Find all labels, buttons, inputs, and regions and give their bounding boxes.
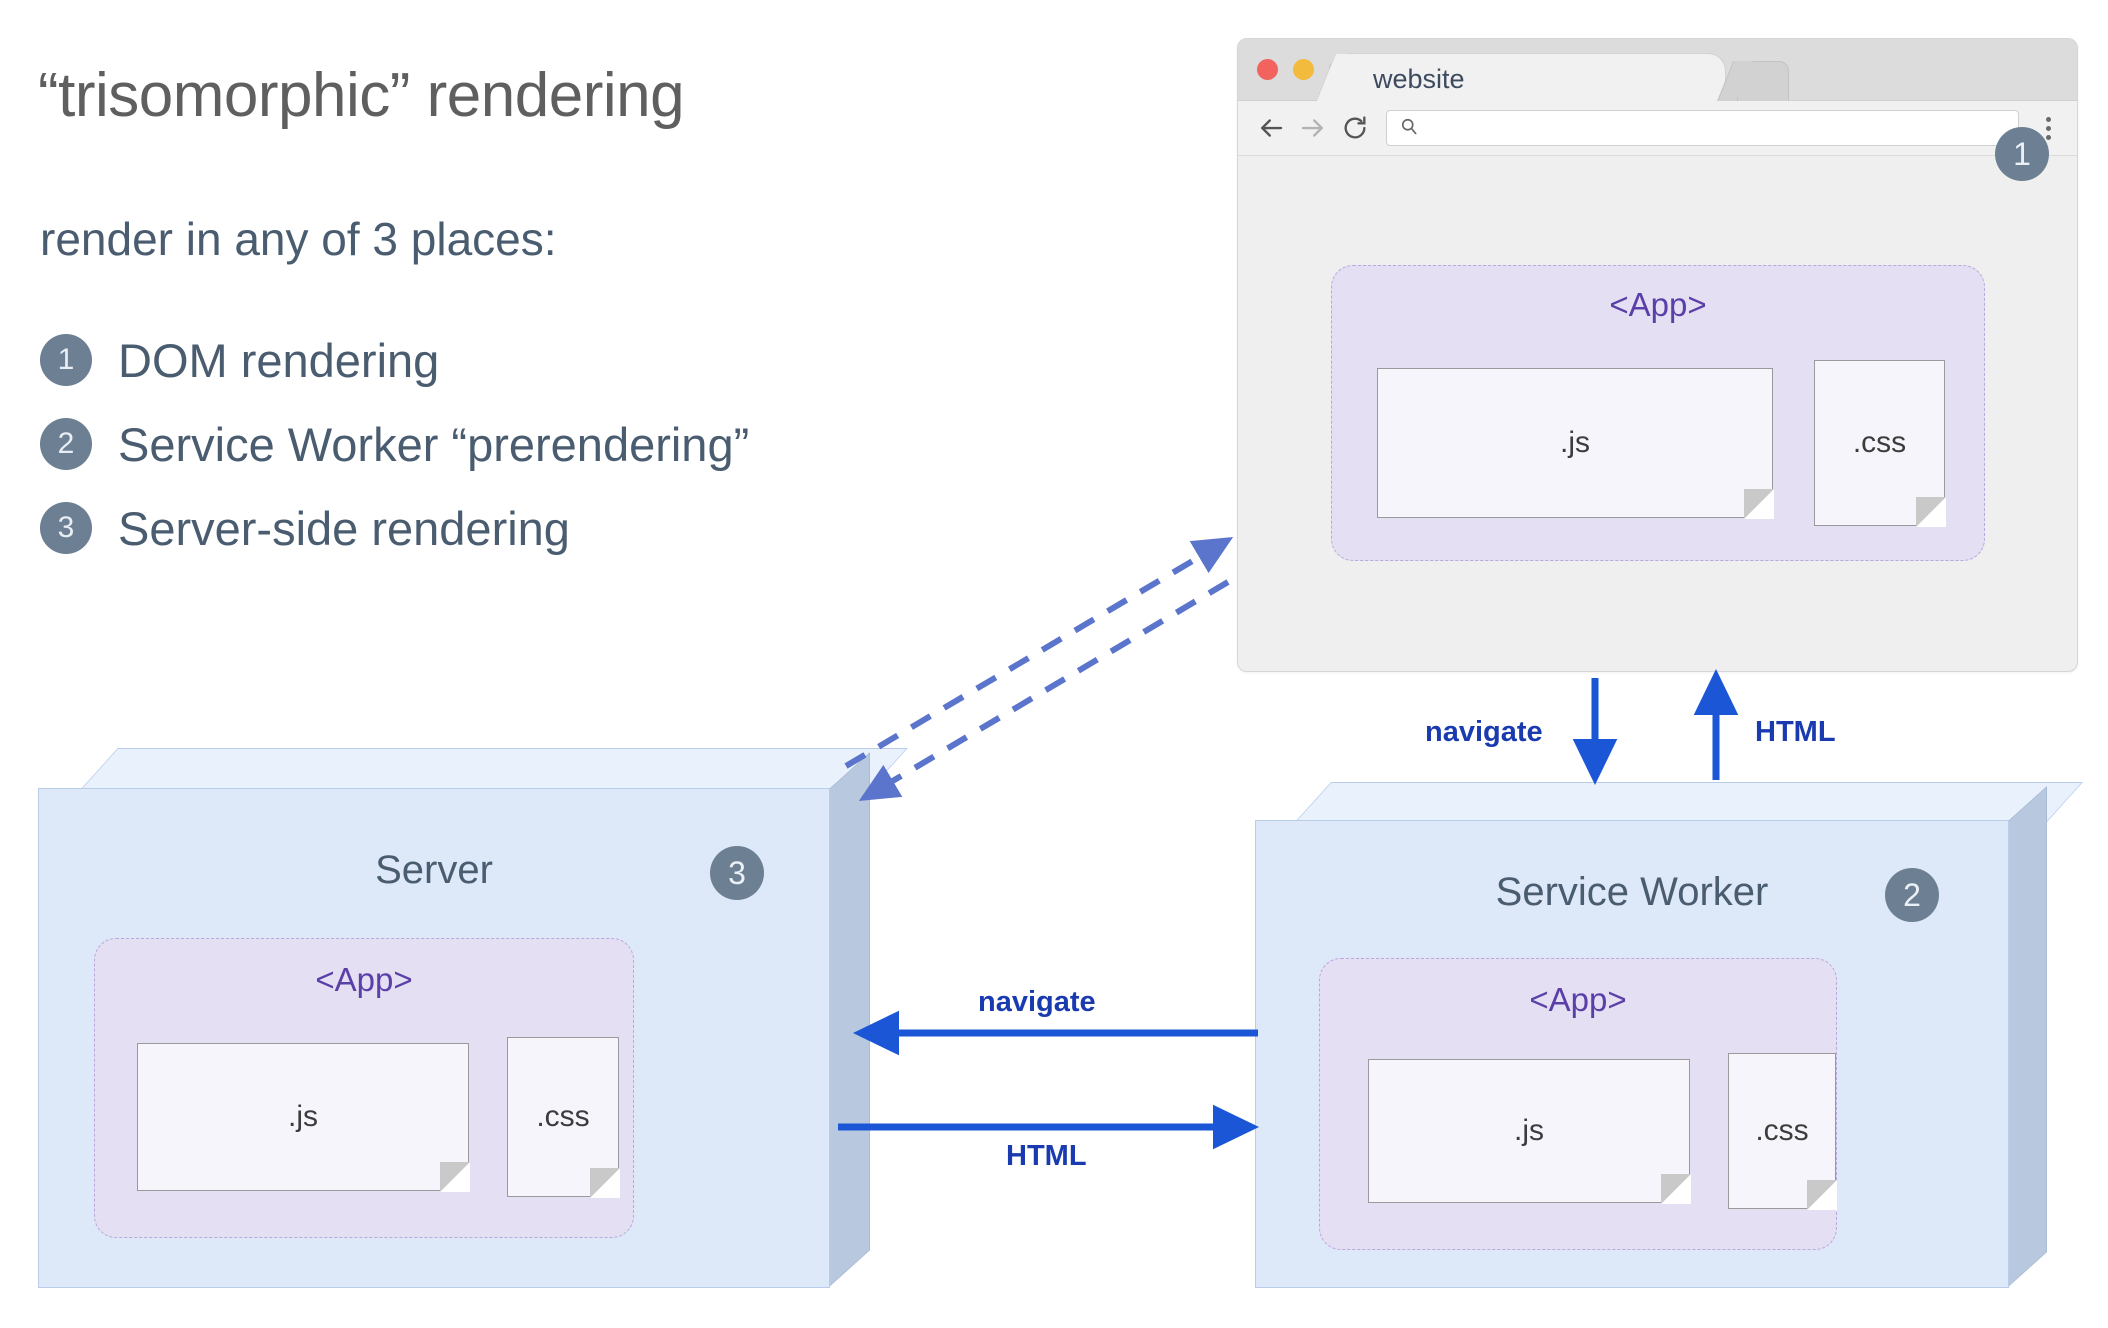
arrow-label-html-browser: HTML xyxy=(1755,716,1836,749)
js-file-icon: .js xyxy=(137,1043,469,1191)
js-file-icon: .js xyxy=(1377,368,1773,518)
arrow-label-html-server: HTML xyxy=(1006,1140,1087,1173)
minimize-window-icon[interactable] xyxy=(1293,59,1314,80)
list-number-badge: 3 xyxy=(40,502,92,554)
list-number-badge: 2 xyxy=(40,418,92,470)
app-title: <App> xyxy=(1332,286,1984,324)
search-icon xyxy=(1399,116,1419,141)
app-title: <App> xyxy=(1320,981,1836,1019)
browser-toolbar xyxy=(1238,101,2077,156)
close-window-icon[interactable] xyxy=(1257,59,1278,80)
places-list: 1 DOM rendering 2 Service Worker “preren… xyxy=(40,318,1020,570)
css-file-label: .css xyxy=(1755,1114,1808,1148)
arrow-label-navigate-server: navigate xyxy=(978,986,1096,1019)
arrow-dashed-to-browser xyxy=(846,540,1228,766)
page-subtitle: render in any of 3 places: xyxy=(40,212,557,266)
browser-tab-label: website xyxy=(1373,64,1465,95)
forward-arrow-icon[interactable] xyxy=(1294,109,1332,147)
list-item: 1 DOM rendering xyxy=(40,318,1020,402)
browser-tab[interactable]: website xyxy=(1346,53,1726,102)
app-container: <App> .js .css xyxy=(1319,958,1837,1250)
server-box: Server 3 <App> .js .css xyxy=(38,748,900,1290)
page-title: “trisomorphic” rendering xyxy=(38,60,684,131)
service-worker-box: Service Worker 2 <App> .js .css xyxy=(1255,782,2085,1288)
arrow-dashed-to-server xyxy=(864,582,1228,798)
arrow-label-navigate-browser: navigate xyxy=(1425,716,1543,749)
css-file-icon: .css xyxy=(1728,1053,1836,1209)
js-file-icon: .js xyxy=(1368,1059,1690,1203)
list-item-label: Server-side rendering xyxy=(118,501,570,556)
list-item-label: DOM rendering xyxy=(118,333,439,388)
browser-window: website 1 <App> xyxy=(1237,38,2078,672)
js-file-label: .js xyxy=(288,1100,318,1134)
diagram-canvas: “trisomorphic” rendering render in any o… xyxy=(0,0,2108,1328)
list-item: 3 Server-side rendering xyxy=(40,486,1020,570)
css-file-label: .css xyxy=(1853,426,1906,460)
app-container: <App> .js .css xyxy=(1331,265,1985,561)
list-number-badge: 1 xyxy=(40,334,92,386)
status-badge: 1 xyxy=(1995,127,2049,181)
list-item-label: Service Worker “prerendering” xyxy=(118,417,749,472)
css-file-label: .css xyxy=(536,1100,589,1134)
back-arrow-icon[interactable] xyxy=(1252,109,1290,147)
browser-titlebar: website xyxy=(1238,39,2077,101)
app-title: <App> xyxy=(95,961,633,999)
browser-tab-inactive[interactable] xyxy=(1737,61,1789,102)
reload-icon[interactable] xyxy=(1336,109,1374,147)
app-container: <App> .js .css xyxy=(94,938,634,1238)
address-bar[interactable] xyxy=(1386,110,2019,146)
status-badge: 2 xyxy=(1885,868,1939,922)
js-file-label: .js xyxy=(1514,1114,1544,1148)
css-file-icon: .css xyxy=(1814,360,1945,526)
status-badge: 3 xyxy=(710,846,764,900)
css-file-icon: .css xyxy=(507,1037,619,1197)
list-item: 2 Service Worker “prerendering” xyxy=(40,402,1020,486)
js-file-label: .js xyxy=(1560,426,1590,460)
